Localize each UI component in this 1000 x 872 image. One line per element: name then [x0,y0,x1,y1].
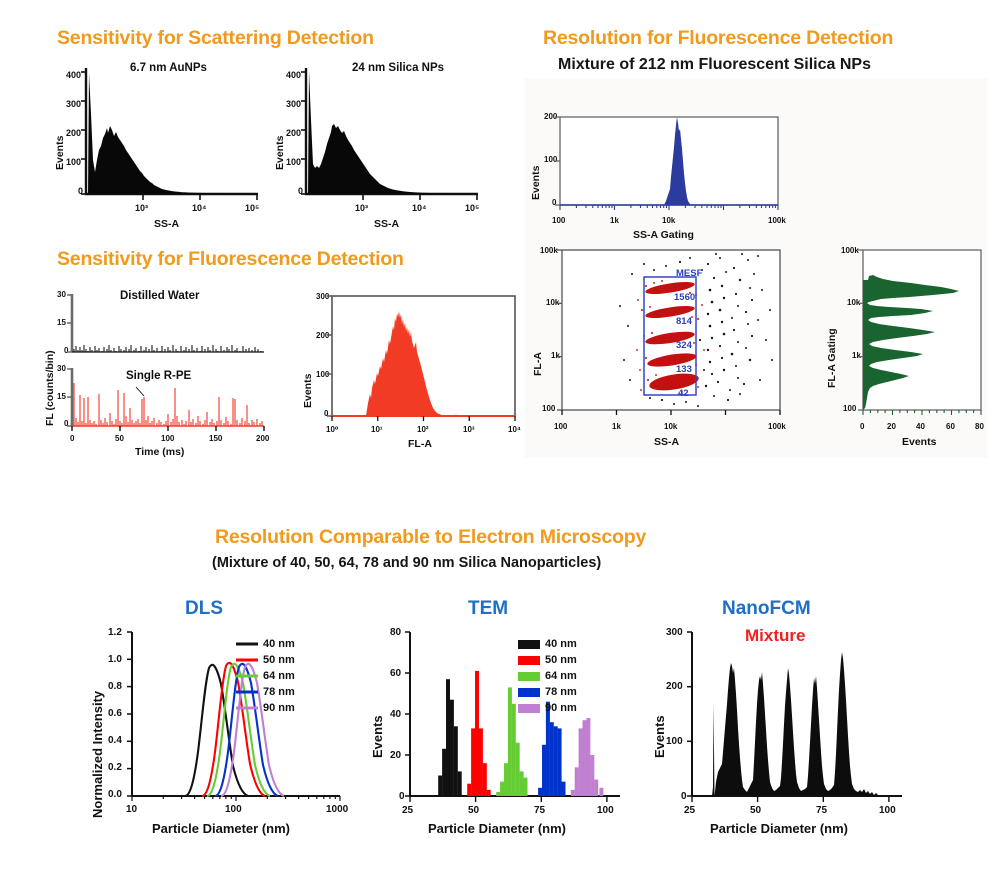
chart-fla-gating-xtick-80: 80 [975,422,984,431]
mesf-value-1560: 1560 [674,292,695,303]
chart-aunp-plot [86,68,258,200]
chart-dls-ytick-0.2: 0.2 [108,762,122,773]
chart-scatter-xtick-1k: 1k [612,422,621,431]
legend-item-64nm: 64 nm [236,668,295,684]
chart-fla-plot [332,296,517,424]
chart-tem-ytick-20: 20 [390,750,401,761]
chart-dls-ytick-1.0: 1.0 [108,654,122,665]
chart-silica24-ytick-200: 200 [286,128,301,138]
chart-dls-ytick-0.0: 0.0 [108,789,122,800]
chart-dls-ytick-0.6: 0.6 [108,708,122,719]
chart-tem: Events 80 60 40 20 0 [368,628,638,858]
legend-label-78nm: 78 nm [263,686,295,698]
chart-nanofcm-ylabel: Events [652,715,667,758]
legend-label-64nm: 64 nm [263,670,295,682]
chart-nanofcm-plot [692,632,907,810]
chart-aunp-ytick-200: 200 [66,128,81,138]
chart-trace-xtick-150: 150 [209,434,222,443]
legend-item-tem-78nm: 78 nm [518,684,577,700]
chart-nanofcm-ytick-0: 0 [681,791,687,802]
chart-fla-xtick-1: 10⁰ [326,425,338,434]
chart-tem-ytick-40: 40 [390,709,401,720]
chart-scatter-xlabel: SS-A [654,436,679,448]
chart-ssa-gating-xtick-100k: 100k [768,216,786,225]
chart-nanofcm-ytick-200: 200 [666,681,683,692]
chart-ssa-gating-plot [560,117,780,213]
chart-nanofcm-ytick-100: 100 [666,736,683,747]
mesf-value-324: 324 [676,340,692,351]
section-title-fluorescence-sensitivity: Sensitivity for Fluorescence Detection [57,248,404,271]
chart-tem-ylabel: Events [370,715,385,758]
chart-silica24-xtick-1000: 10³ [355,203,368,213]
chart-aunp-scattering: 6.7 nm AuNPs Events 400 300 200 100 0 10… [52,60,262,235]
legend-label-tem-40nm: 40 nm [545,638,577,650]
chart-trace-rpe-ytick-30: 30 [57,364,66,373]
chart-scatter-ytick-100: 100 [542,404,555,413]
mesf-value-133: 133 [676,364,692,375]
chart-ssa-gating: Events 200 100 0 [528,112,818,247]
chart-fla-gating-ytick-100k: 100k [841,246,859,255]
legend-label-tem-90nm: 90 nm [545,702,577,714]
chart-trace-water-ytick-30: 30 [57,290,66,299]
chart-trace-xtick-200: 200 [256,434,269,443]
chart-silica24-scattering: 24 nm Silica NPs Events 400 300 200 100 … [272,60,487,235]
chart-nanofcm-title: NanoFCM [722,598,811,620]
chart-dls-ytick-0.4: 0.4 [108,735,122,746]
chart-fla-ylabel: Events [302,374,314,408]
legend-label-tem-64nm: 64 nm [545,670,577,682]
chart-fla-histogram: Events 300 200 100 0 10⁰ 10¹ 10² 10³ 10⁴… [300,288,525,458]
chart-ssa-gating-ytick-100: 100 [544,155,557,164]
chart-ssa-gating-ylabel: Events [530,166,542,200]
chart-trace-xtick-0: 0 [70,434,74,443]
legend-label-90nm: 90 nm [263,702,295,714]
legend-swatch-40nm [236,642,258,646]
chart-trace-rpe-plot [72,368,267,432]
legend-item-tem-64nm: 64 nm [518,668,577,684]
chart-aunp-xtick-1000: 10³ [135,203,148,213]
chart-dls: Normalized Intensity 1.2 1.0 0.8 0.6 0.4… [88,628,348,858]
chart-trace-water-plot [72,294,267,356]
chart-tem-ytick-60: 60 [390,668,401,679]
chart-tem-xtick-75: 75 [534,805,545,816]
chart-nanofcm-xtick-75: 75 [816,805,827,816]
section-title-scattering: Sensitivity for Scattering Detection [57,27,374,50]
section-title-fluorescence-resolution: Resolution for Fluorescence Detection [543,27,893,50]
chart-fla-gating-ytick-10k: 10k [847,298,860,307]
chart-dls-xtick-10: 10 [126,804,137,815]
chart-fla-xtick-1000: 10³ [463,425,475,434]
legend-item-40nm: 40 nm [236,636,295,652]
chart-silica24-ytick-400: 400 [286,70,301,80]
legend-item-50nm: 50 nm [236,652,295,668]
chart-scatter-xtick-100k: 100k [768,422,786,431]
chart-trace-water-ytick-0: 0 [64,346,68,355]
legend-item-tem-40nm: 40 nm [518,636,577,652]
chart-dls-ytick-1.2: 1.2 [108,627,122,638]
chart-trace-xtick-50: 50 [115,434,124,443]
chart-fla-gating: FL-A Gating 100k 10k 1k 100 0 20 40 60 8… [822,248,987,463]
chart-tem-xtick-50: 50 [468,805,479,816]
chart-tem-xlabel: Particle Diameter (nm) [428,821,566,836]
chart-trace-rpe-ytick-15: 15 [57,392,66,401]
chart-aunp-ytick-100: 100 [66,157,81,167]
chart-fla-gating-plot [863,250,985,418]
chart-dls-ytick-0.8: 0.8 [108,681,122,692]
chart-dls-title: DLS [185,598,223,620]
chart-nanofcm-xtick-25: 25 [684,805,695,816]
legend-swatch-78nm [236,690,258,694]
chart-ssa-gating-xtick-10k: 10k [662,216,675,225]
chart-scatter-ytick-10k: 10k [546,298,559,307]
chart-aunp-xtick-10000: 10⁴ [192,203,206,213]
chart-fla-ssa-scatter: FL-A 100k 10k 1k 100 [528,248,818,458]
section-title-resolution: Resolution Comparable to Electron Micros… [215,526,646,549]
chart-time-trace: FL (counts/bin) Distilled Water 30 15 0 [40,288,300,458]
chart-fla-gating-xtick-0: 0 [860,422,864,431]
chart-nanofcm-xtick-50: 50 [750,805,761,816]
chart-ssa-gating-xlabel: SS-A Gating [633,229,694,241]
chart-aunp-ytick-400: 400 [66,70,81,80]
legend-swatch-tem-40nm [518,640,540,649]
chart-tem-ytick-80: 80 [390,627,401,638]
chart-fla-gating-ytick-1k: 1k [852,351,861,360]
legend-item-tem-50nm: 50 nm [518,652,577,668]
chart-dls-xtick-1000: 1000 [326,804,348,815]
chart-silica24-ytick-100: 100 [286,157,301,167]
chart-trace-xlabel: Time (ms) [135,446,184,458]
chart-silica24-xlabel: SS-A [374,218,399,230]
chart-fla-gating-ylabel: FL-A Gating [826,328,838,388]
chart-fla-gating-xtick-20: 20 [887,422,896,431]
chart-tem-xtick-25: 25 [402,805,413,816]
chart-trace-xtick-100: 100 [161,434,174,443]
legend-label-50nm: 50 nm [263,654,295,666]
chart-fla-xtick-10000: 10⁴ [508,425,521,434]
legend-swatch-64nm [236,674,258,678]
chart-aunp-xtick-100000: 10⁵ [245,203,259,213]
chart-silica24-ylabel: Events [274,136,286,170]
mesf-value-42: 42 [678,388,689,399]
chart-scatter-plot [562,250,782,418]
chart-nanofcm-xlabel: Particle Diameter (nm) [710,821,848,836]
fluorescence-resolution-subtitle: Mixture of 212 nm Fluorescent Silica NPs [558,56,871,74]
chart-nanofcm-xtick-100: 100 [879,805,896,816]
chart-fla-gating-xtick-40: 40 [916,422,925,431]
chart-tem-title: TEM [468,598,508,620]
chart-silica24-ytick-300: 300 [286,99,301,109]
chart-scatter-ytick-1k: 1k [551,351,560,360]
legend-label-tem-50nm: 50 nm [545,654,577,666]
chart-scatter-ytick-100k: 100k [540,246,558,255]
chart-silica24-xtick-10000: 10⁴ [412,203,426,213]
legend-item-90nm: 90 nm [236,700,295,716]
chart-scatter-ylabel: FL-A [532,352,544,376]
chart-fla-gating-xtick-60: 60 [946,422,955,431]
legend-label-tem-78nm: 78 nm [545,686,577,698]
chart-trace-water-ytick-15: 15 [57,318,66,327]
legend-item-tem-90nm: 90 nm [518,700,577,716]
legend-swatch-90nm [236,706,258,710]
chart-fla-xtick-100: 10² [417,425,429,434]
chart-trace-ylabel: FL (counts/bin) [44,350,56,426]
legend-swatch-tem-64nm [518,672,540,681]
chart-aunp-xlabel: SS-A [154,218,179,230]
chart-scatter-xtick-100: 100 [554,422,567,431]
mesf-header: MESF [676,268,702,279]
chart-fla-xlabel: FL-A [408,438,432,450]
chart-dls-ylabel: Normalized Intensity [90,691,105,818]
chart-ssa-gating-xtick-100: 100 [552,216,565,225]
chart-scatter-xtick-10k: 10k [664,422,677,431]
resolution-subtitle: (Mixture of 40, 50, 64, 78 and 90 nm Sil… [212,555,601,571]
chart-nanofcm: Events 300 200 100 0 25 50 75 100 Partic… [650,628,920,858]
chart-tem-xtick-100: 100 [597,805,614,816]
chart-silica24-plot [306,68,478,200]
chart-ssa-gating-xtick-1k: 1k [610,216,619,225]
legend-item-78nm: 78 nm [236,684,295,700]
legend-label-40nm: 40 nm [263,638,295,650]
chart-fla-gating-ytick-100: 100 [843,404,856,413]
chart-tem-ytick-0: 0 [399,791,405,802]
legend-swatch-tem-50nm [518,656,540,665]
chart-silica24-xtick-100000: 10⁵ [465,203,479,213]
mesf-value-814: 814 [676,316,692,327]
chart-aunp-ytick-300: 300 [66,99,81,109]
chart-tem-legend: 40 nm 50 nm 64 nm 78 nm 90 nm [518,636,577,716]
chart-aunp-ylabel: Events [54,136,66,170]
legend-swatch-tem-90nm [518,704,540,713]
chart-nanofcm-ytick-300: 300 [666,627,683,638]
legend-swatch-tem-78nm [518,688,540,697]
chart-fla-gating-xlabel: Events [902,436,936,448]
legend-swatch-50nm [236,658,258,662]
chart-dls-legend: 40 nm 50 nm 64 nm 78 nm 90 nm [236,636,295,716]
chart-dls-xlabel: Particle Diameter (nm) [152,821,290,836]
chart-fla-xtick-10: 10¹ [371,425,383,434]
chart-dls-xtick-100: 100 [225,804,242,815]
